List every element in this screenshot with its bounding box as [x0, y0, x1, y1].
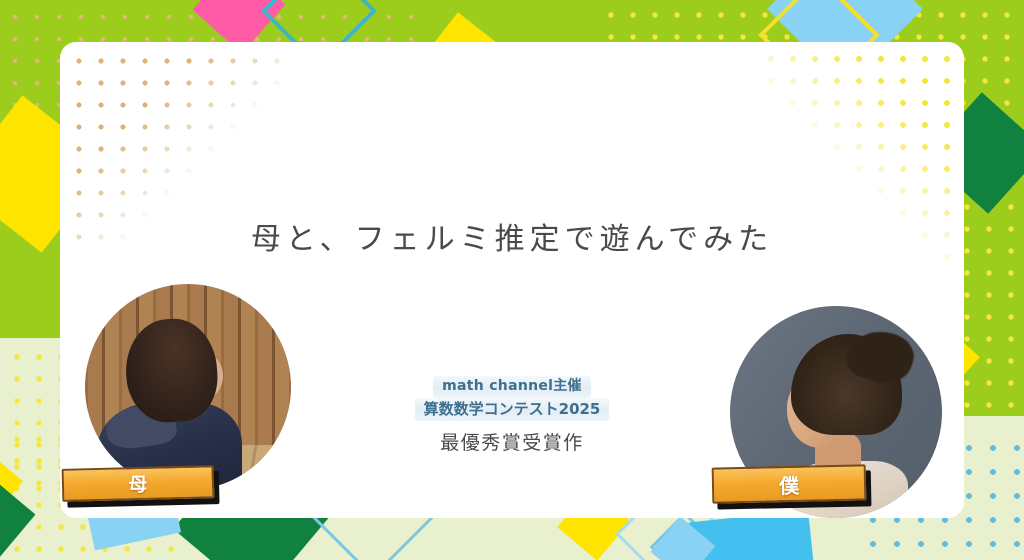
award-organizer: math channel主催 [433, 376, 591, 398]
title-slide: 母と、フェルミ推定で遊んでみた math channel主催 算数数学コンテスト… [0, 0, 1024, 560]
name-badge-boy: 僕 [712, 464, 867, 503]
page-title: 母と、フェルミ推定で遊んでみた [0, 214, 1024, 258]
award-contest-name: 算数数学コンテスト2025 [415, 398, 610, 421]
name-badge-mother: 母 [62, 465, 215, 502]
mother-profile-photo [85, 284, 291, 490]
